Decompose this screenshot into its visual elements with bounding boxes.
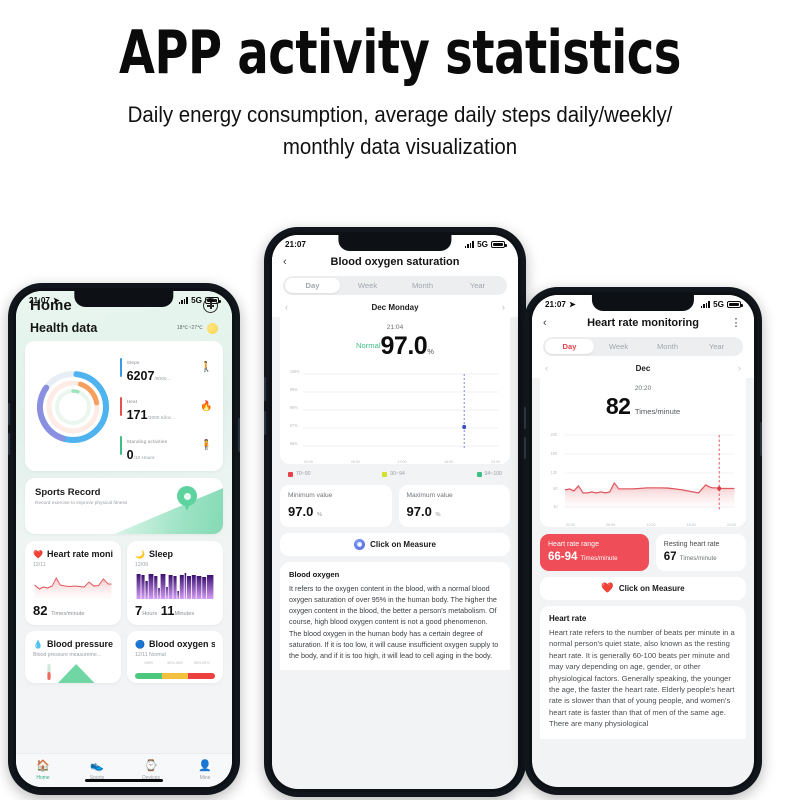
weather-temp: 18℃~27℃: [177, 325, 203, 331]
svg-text:80: 80: [553, 486, 558, 491]
measure-button-label: Click on Measure: [619, 584, 685, 593]
home-screen: 21:07 ➤ 5G Home Health data: [16, 291, 232, 787]
click-on-measure-button[interactable]: ◉ Click on Measure: [280, 533, 510, 556]
phone-center-screen: 21:07 5G ‹ Blood oxygen saturation Day W…: [272, 235, 518, 789]
card-unit: Times/minute: [581, 555, 618, 562]
flame-icon: 🔥: [200, 401, 212, 412]
tick-label: <90%: [135, 661, 162, 665]
card-blood-oxygen[interactable]: 🔵 Blood oxygen satur. 12/11 Normal <90% …: [127, 631, 223, 683]
info-title: Blood oxygen: [289, 570, 501, 579]
period-segmented-control[interactable]: Day Week Month Year: [283, 276, 507, 295]
home-title: Home: [30, 297, 72, 314]
spo2-measure-icon: ◉: [354, 539, 365, 550]
legend-label: 70~90: [296, 471, 311, 477]
click-on-measure-button[interactable]: ❤️ Click on Measure: [540, 577, 746, 600]
svg-text:40: 40: [553, 504, 558, 509]
x-tick: 06:00: [351, 460, 360, 464]
phones-stage: 21:07 ➤ 5G Home Health data: [0, 215, 800, 800]
blood-oxygen-info-card: Blood oxygen It refers to the oxygen con…: [280, 562, 510, 670]
card-value: 67: [664, 551, 677, 563]
segment-week[interactable]: Week: [594, 339, 643, 354]
metric-unit: /8000...: [154, 377, 170, 382]
subtitle-line-2: monthly data visualization: [283, 134, 517, 159]
activity-rings-card[interactable]: Steps 6207/8000... 🚶 Heat: [25, 341, 223, 471]
weather-widget[interactable]: 18℃~27℃: [177, 323, 218, 334]
metric-unit: /2000 Kiloc...: [147, 416, 175, 421]
tab-label: Mine: [178, 775, 232, 781]
shoe-icon: 👟: [70, 761, 124, 772]
phone-left: 21:07 ➤ 5G Home Health data: [8, 283, 240, 795]
circle-icon: 🔵: [135, 640, 145, 649]
notch: [74, 291, 173, 307]
tick-label: 95%-99%: [188, 661, 215, 665]
add-icon[interactable]: [203, 298, 218, 313]
legend-label: 90~94: [390, 471, 405, 477]
svg-text:97%: 97%: [290, 423, 298, 428]
battery-icon: [727, 301, 741, 309]
health-data-header: Health data 18℃~27℃: [16, 316, 232, 341]
maximum-value-card: Maximum value 97.0 %: [399, 485, 511, 527]
status-badge: Normal: [356, 341, 380, 350]
signal-icon: [701, 301, 710, 308]
segment-month[interactable]: Month: [395, 278, 450, 293]
date-label: Dec Monday: [371, 303, 418, 312]
metric-label: Heat: [127, 400, 138, 405]
spo2-value: 97.0: [381, 332, 428, 360]
info-body: Heart rate refers to the number of beats…: [549, 627, 737, 730]
svg-text:200: 200: [551, 432, 558, 437]
svg-text:96%: 96%: [290, 441, 298, 446]
x-tick: 18:00: [687, 523, 696, 527]
chart-legend: 70~90 90~94 94~100: [272, 464, 518, 479]
info-title: Heart rate: [549, 614, 737, 623]
heart-rate-range-card: Heart rate range 66-94 Times/minute: [540, 534, 649, 571]
min-max-cards: Minimum value 97.0 % Maximum value 97.0 …: [280, 485, 510, 527]
card-unit: Hours: [142, 611, 157, 617]
map-pin-icon: [177, 486, 197, 512]
metric-color-bar: [120, 436, 122, 455]
home-icon: 🏠: [16, 761, 70, 772]
more-vertical-icon[interactable]: ⋮: [729, 316, 743, 329]
metric-unit: /10 Hours: [134, 456, 155, 461]
metric-heat[interactable]: Heat 171/2000 Kiloc... 🔥: [120, 390, 212, 422]
page-title: APP activity statistics: [56, 22, 744, 85]
card-label: Maximum value: [407, 492, 503, 501]
metric-standing[interactable]: Standing activities 0/10 Hours 🧍: [120, 430, 212, 462]
blood-oxygen-range-bar: [135, 673, 215, 679]
tab-sports[interactable]: 👟 Sports: [70, 761, 124, 781]
health-data-title: Health data: [30, 321, 97, 335]
droplet-icon: 💧: [33, 640, 43, 649]
legend-swatch: [382, 472, 387, 477]
card-value: 82: [33, 603, 47, 618]
legend-swatch: [477, 472, 482, 477]
segment-week[interactable]: Week: [340, 278, 395, 293]
card-title: Sleep: [149, 549, 173, 559]
next-date-button[interactable]: ›: [502, 302, 505, 312]
next-date-button[interactable]: ›: [738, 363, 741, 373]
resting-heart-rate-card: Resting heart rate 67 Times/minute: [656, 534, 746, 571]
period-segmented-control[interactable]: Day Week Month Year: [543, 337, 743, 356]
segment-day[interactable]: Day: [545, 339, 594, 354]
blood-oxygen-x-axis: 00:00 06:00 12:00 18:00 24:00: [288, 458, 502, 464]
x-tick: 18:00: [444, 460, 453, 464]
phone-right-screen: 21:07 ➤ 5G ‹ Heart rate monitoring ⋮ Day: [532, 295, 754, 787]
app-bar: ‹ Heart rate monitoring ⋮: [532, 310, 754, 337]
home-scroll[interactable]: Home Health data 18℃~27℃: [16, 291, 232, 753]
sleep-bar-chart: [135, 573, 215, 599]
heart-rate-info-card: Heart rate Heart rate refers to the numb…: [540, 606, 746, 739]
tab-mine[interactable]: 👤 Mine: [178, 761, 232, 781]
metric-label: Standing activities: [127, 440, 168, 445]
tick-label: 90%-94%: [162, 661, 189, 665]
legend-item-low: 70~90: [288, 471, 311, 477]
legend-label: 94~100: [485, 471, 502, 477]
card-title: Blood pressure mor: [47, 639, 113, 649]
date-label: Dec: [636, 364, 651, 373]
blood-pressure-illustration: [33, 662, 113, 683]
tab-devices[interactable]: ⌚ Devices: [124, 761, 178, 781]
heart-rate-reading: 82 Times/minute: [548, 393, 738, 420]
sports-record-card[interactable]: Sports Record Record exercise to improve…: [25, 478, 223, 534]
blood-oxygen-chart[interactable]: 100%99% 98%97% 96% 00:00 06:00 12:00 18:…: [288, 366, 502, 458]
legend-item-high: 94~100: [477, 471, 502, 477]
measure-timestamp: 20:20: [548, 385, 738, 392]
tab-label: Home: [16, 775, 70, 781]
spo2-unit: %: [427, 347, 434, 356]
signal-icon: [465, 241, 474, 248]
card-date: 12/11 Normal: [135, 652, 215, 658]
svg-text:120: 120: [551, 470, 558, 475]
location-arrow-icon: ➤: [569, 300, 576, 309]
metric-color-bar: [120, 397, 122, 416]
status-time: 21:07: [285, 240, 306, 249]
heart-rate-unit: Times/minute: [635, 407, 680, 416]
x-tick: 24:00: [727, 523, 736, 527]
home-indicator[interactable]: [85, 779, 163, 782]
metric-value: 171: [127, 408, 148, 422]
volume-down-button[interactable]: [524, 437, 526, 459]
heart-rate-x-axis: 00:00 06:00 12:00 18:00 24:00: [548, 521, 738, 527]
x-tick: 06:00: [606, 523, 615, 527]
card-value: 97.0: [288, 504, 313, 519]
card-sleep[interactable]: 🌙 Sleep 12/09: [127, 541, 223, 625]
segment-month[interactable]: Month: [643, 339, 692, 354]
metric-steps[interactable]: Steps 6207/8000... 🚶: [120, 351, 212, 383]
minimum-value-card: Minimum value 97.0 %: [280, 485, 392, 527]
card-subtitle: Blood pressure measureme...: [33, 652, 113, 658]
card-blood-pressure[interactable]: 💧 Blood pressure mor Blood pressure meas…: [25, 631, 121, 683]
segment-year[interactable]: Year: [450, 278, 505, 293]
phone-left-screen: 21:07 ➤ 5G Home Health data: [16, 291, 232, 787]
date-navigator: ‹ Dec Monday ›: [272, 295, 518, 313]
heart-icon: ❤️: [601, 583, 613, 594]
notch: [338, 235, 451, 251]
battery-icon: [491, 241, 505, 249]
prev-date-button[interactable]: ‹: [285, 302, 288, 312]
heart-rate-summary-card: 20:20 82 Times/minute: [540, 378, 746, 527]
person-icon: 👤: [178, 761, 232, 772]
card-title: Heart rate monitori: [47, 549, 113, 559]
tab-home[interactable]: 🏠 Home: [16, 761, 70, 781]
blood-oxygen-ticks: <90% 90%-94% 95%-99%: [135, 661, 215, 665]
page-title: Blood oxygen saturation: [297, 256, 493, 268]
card-date: 12/11: [33, 562, 113, 568]
legend-swatch: [288, 472, 293, 477]
x-tick: 00:00: [304, 460, 313, 464]
metrics-list: Steps 6207/8000... 🚶 Heat: [120, 351, 214, 462]
power-button[interactable]: [760, 422, 762, 456]
power-button[interactable]: [238, 418, 240, 452]
legend-item-mid: 90~94: [382, 471, 405, 477]
heart-icon: ❤️: [33, 550, 43, 559]
heart-rate-stat-cards: Heart rate range 66-94 Times/minute Rest…: [540, 534, 746, 571]
svg-text:98%: 98%: [290, 405, 298, 410]
network-label: 5G: [713, 300, 724, 309]
measure-timestamp: 21:04: [288, 324, 502, 331]
moon-icon: 🌙: [135, 550, 145, 559]
volume-up-button[interactable]: [8, 403, 10, 425]
standing-icon: 🧍: [200, 440, 212, 451]
bottom-tab-bar: 🏠 Home 👟 Sports ⌚ Devices 👤 Mine: [16, 753, 232, 787]
card-unit-2: Minutes: [175, 611, 195, 617]
card-title: Blood oxygen satur.: [149, 639, 215, 649]
activity-rings-chart: [34, 368, 112, 446]
spo2-summary-card: 21:04 Normal97.0% 100%9: [280, 317, 510, 464]
volume-up-button[interactable]: [524, 407, 526, 429]
walking-icon: 🚶: [200, 362, 212, 373]
heart-rate-value: 82: [606, 393, 631, 419]
card-heart-rate[interactable]: ❤️ Heart rate monitori 12/11: [25, 541, 121, 625]
prev-date-button[interactable]: ‹: [545, 363, 548, 373]
card-label: Minimum value: [288, 492, 384, 501]
card-unit: %: [435, 512, 440, 518]
volume-down-button[interactable]: [264, 411, 266, 435]
date-navigator: ‹ Dec ›: [532, 356, 754, 374]
page-header: APP activity statistics Daily energy con…: [0, 0, 800, 163]
metric-value: 6207: [127, 369, 155, 383]
card-unit: Times/minute: [51, 611, 84, 617]
heart-rate-chart[interactable]: 200160 1208040 00:00 06:00 12:00 18:00: [548, 425, 738, 521]
metric-label: Steps: [127, 361, 140, 366]
svg-text:99%: 99%: [290, 387, 298, 392]
card-value: 97.0: [407, 504, 432, 519]
app-bar: ‹ Blood oxygen saturation: [272, 250, 518, 276]
notch: [592, 295, 694, 311]
chevron-left-icon[interactable]: ‹: [543, 317, 557, 329]
phone-center: 21:07 5G ‹ Blood oxygen saturation Day W…: [264, 227, 526, 797]
chevron-left-icon[interactable]: ‹: [283, 256, 297, 268]
watch-icon: ⌚: [124, 761, 178, 772]
health-cards-grid: ❤️ Heart rate monitori 12/11: [25, 541, 223, 683]
svg-text:160: 160: [551, 451, 558, 456]
info-body: It refers to the oxygen content in the b…: [289, 583, 501, 661]
card-unit: Times/minute: [680, 555, 717, 562]
sun-icon: [207, 323, 218, 334]
segment-year[interactable]: Year: [692, 339, 741, 354]
measure-button-label: Click on Measure: [370, 540, 436, 549]
card-date: 12/09: [135, 562, 215, 568]
svg-text:100%: 100%: [290, 369, 300, 374]
spo2-reading: Normal97.0%: [288, 332, 502, 361]
card-unit: %: [317, 512, 322, 518]
page-title: Heart rate monitoring: [557, 317, 729, 329]
x-tick: 12:00: [647, 523, 656, 527]
phone-right: 21:07 ➤ 5G ‹ Heart rate monitoring ⋮ Day: [524, 287, 762, 795]
segment-day[interactable]: Day: [285, 278, 340, 293]
status-time: 21:07: [545, 300, 566, 309]
card-label: Resting heart rate: [664, 541, 738, 548]
card-label: Heart rate range: [548, 541, 641, 548]
network-label: 5G: [477, 240, 488, 249]
page-subtitle: Daily energy consumption, average daily …: [28, 99, 772, 163]
card-value: 66-94: [548, 551, 577, 563]
metric-color-bar: [120, 358, 122, 377]
volume-down-button[interactable]: [8, 433, 10, 455]
heart-rate-sparkline: [33, 573, 113, 599]
metric-value: 0: [127, 448, 134, 462]
x-tick: 12:00: [398, 460, 407, 464]
volume-up-button[interactable]: [264, 377, 266, 401]
card-value-2: 11: [161, 603, 175, 618]
subtitle-line-1: Daily energy consumption, average daily …: [128, 102, 673, 127]
x-tick: 24:00: [491, 460, 500, 464]
x-tick: 00:00: [566, 523, 575, 527]
